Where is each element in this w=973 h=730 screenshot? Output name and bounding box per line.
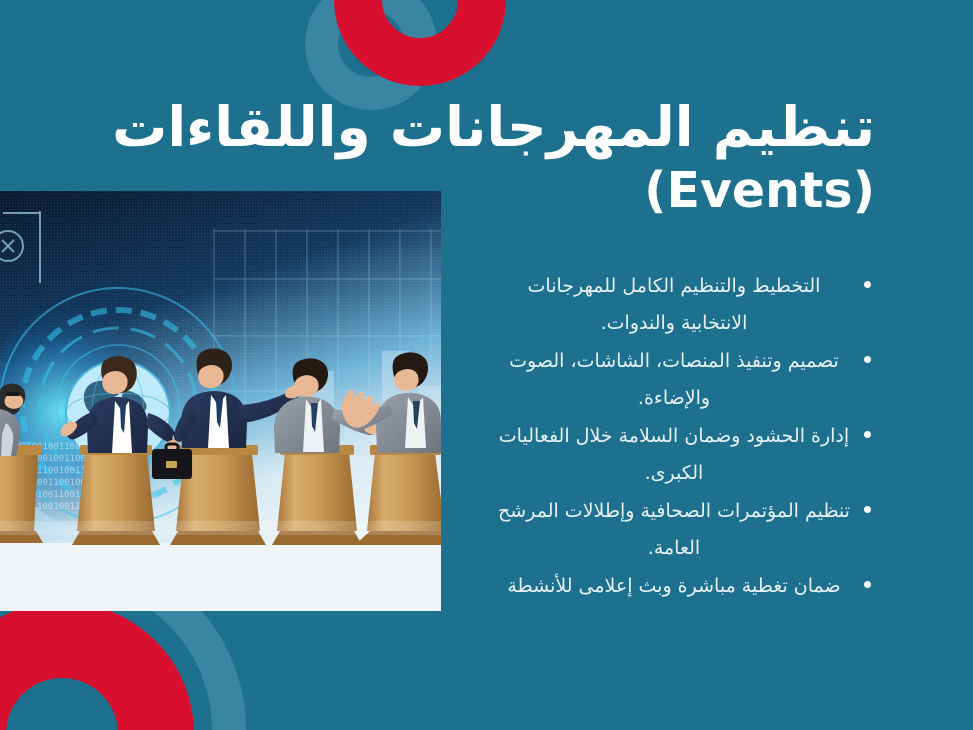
- list-item-label: ضمان تغطية مباشرة وبث إعلامى للأنشطة: [507, 575, 840, 597]
- list-item-label: تصميم وتنفيذ المنصات، الشاشات، الصوت وال…: [509, 350, 839, 409]
- services-bullet-list: التخطيط والتنظيم الكامل للمهرجانات الانت…: [497, 268, 875, 606]
- list-item-label: إدارة الحشود وضمان السلامة خلال الفعاليا…: [499, 425, 849, 484]
- bottom-red-ring-decoration: [0, 602, 194, 730]
- top-blue-ring-decoration: [305, 0, 437, 110]
- list-item-label: التخطيط والتنظيم الكامل للمهرجانات الانت…: [528, 275, 821, 334]
- slide-root: 1110100100110010010011001001100101 00100…: [0, 0, 973, 730]
- bullet-dot-icon: [864, 506, 871, 513]
- photo-illustration: 1110100100110010010011001001100101 00100…: [0, 191, 441, 611]
- bullet-dot-icon: [864, 581, 871, 588]
- bullet-dot-icon: [864, 431, 871, 438]
- title-line-english: (Events): [115, 163, 875, 219]
- bullet-dot-icon: [864, 356, 871, 363]
- bullet-dot-icon: [864, 281, 871, 288]
- title-line-arabic: تنظيم المهرجانات واللقاءات: [115, 96, 875, 159]
- debate-podiums-photo: 1110100100110010010011001001100101 00100…: [0, 191, 441, 611]
- list-item-label: تنظيم المؤتمرات الصحافية وإطلالات المرشح…: [498, 500, 850, 559]
- list-item: إدارة الحشود وضمان السلامة خلال الفعاليا…: [497, 418, 875, 492]
- list-item: ضمان تغطية مباشرة وبث إعلامى للأنشطة: [497, 568, 875, 605]
- list-item: تصميم وتنفيذ المنصات، الشاشات، الصوت وال…: [497, 343, 875, 417]
- list-item: التخطيط والتنظيم الكامل للمهرجانات الانت…: [497, 268, 875, 342]
- top-red-ring-decoration: [334, 0, 506, 86]
- list-item: تنظيم المؤتمرات الصحافية وإطلالات المرشح…: [497, 493, 875, 567]
- page-title: تنظيم المهرجانات واللقاءات (Events): [115, 96, 875, 220]
